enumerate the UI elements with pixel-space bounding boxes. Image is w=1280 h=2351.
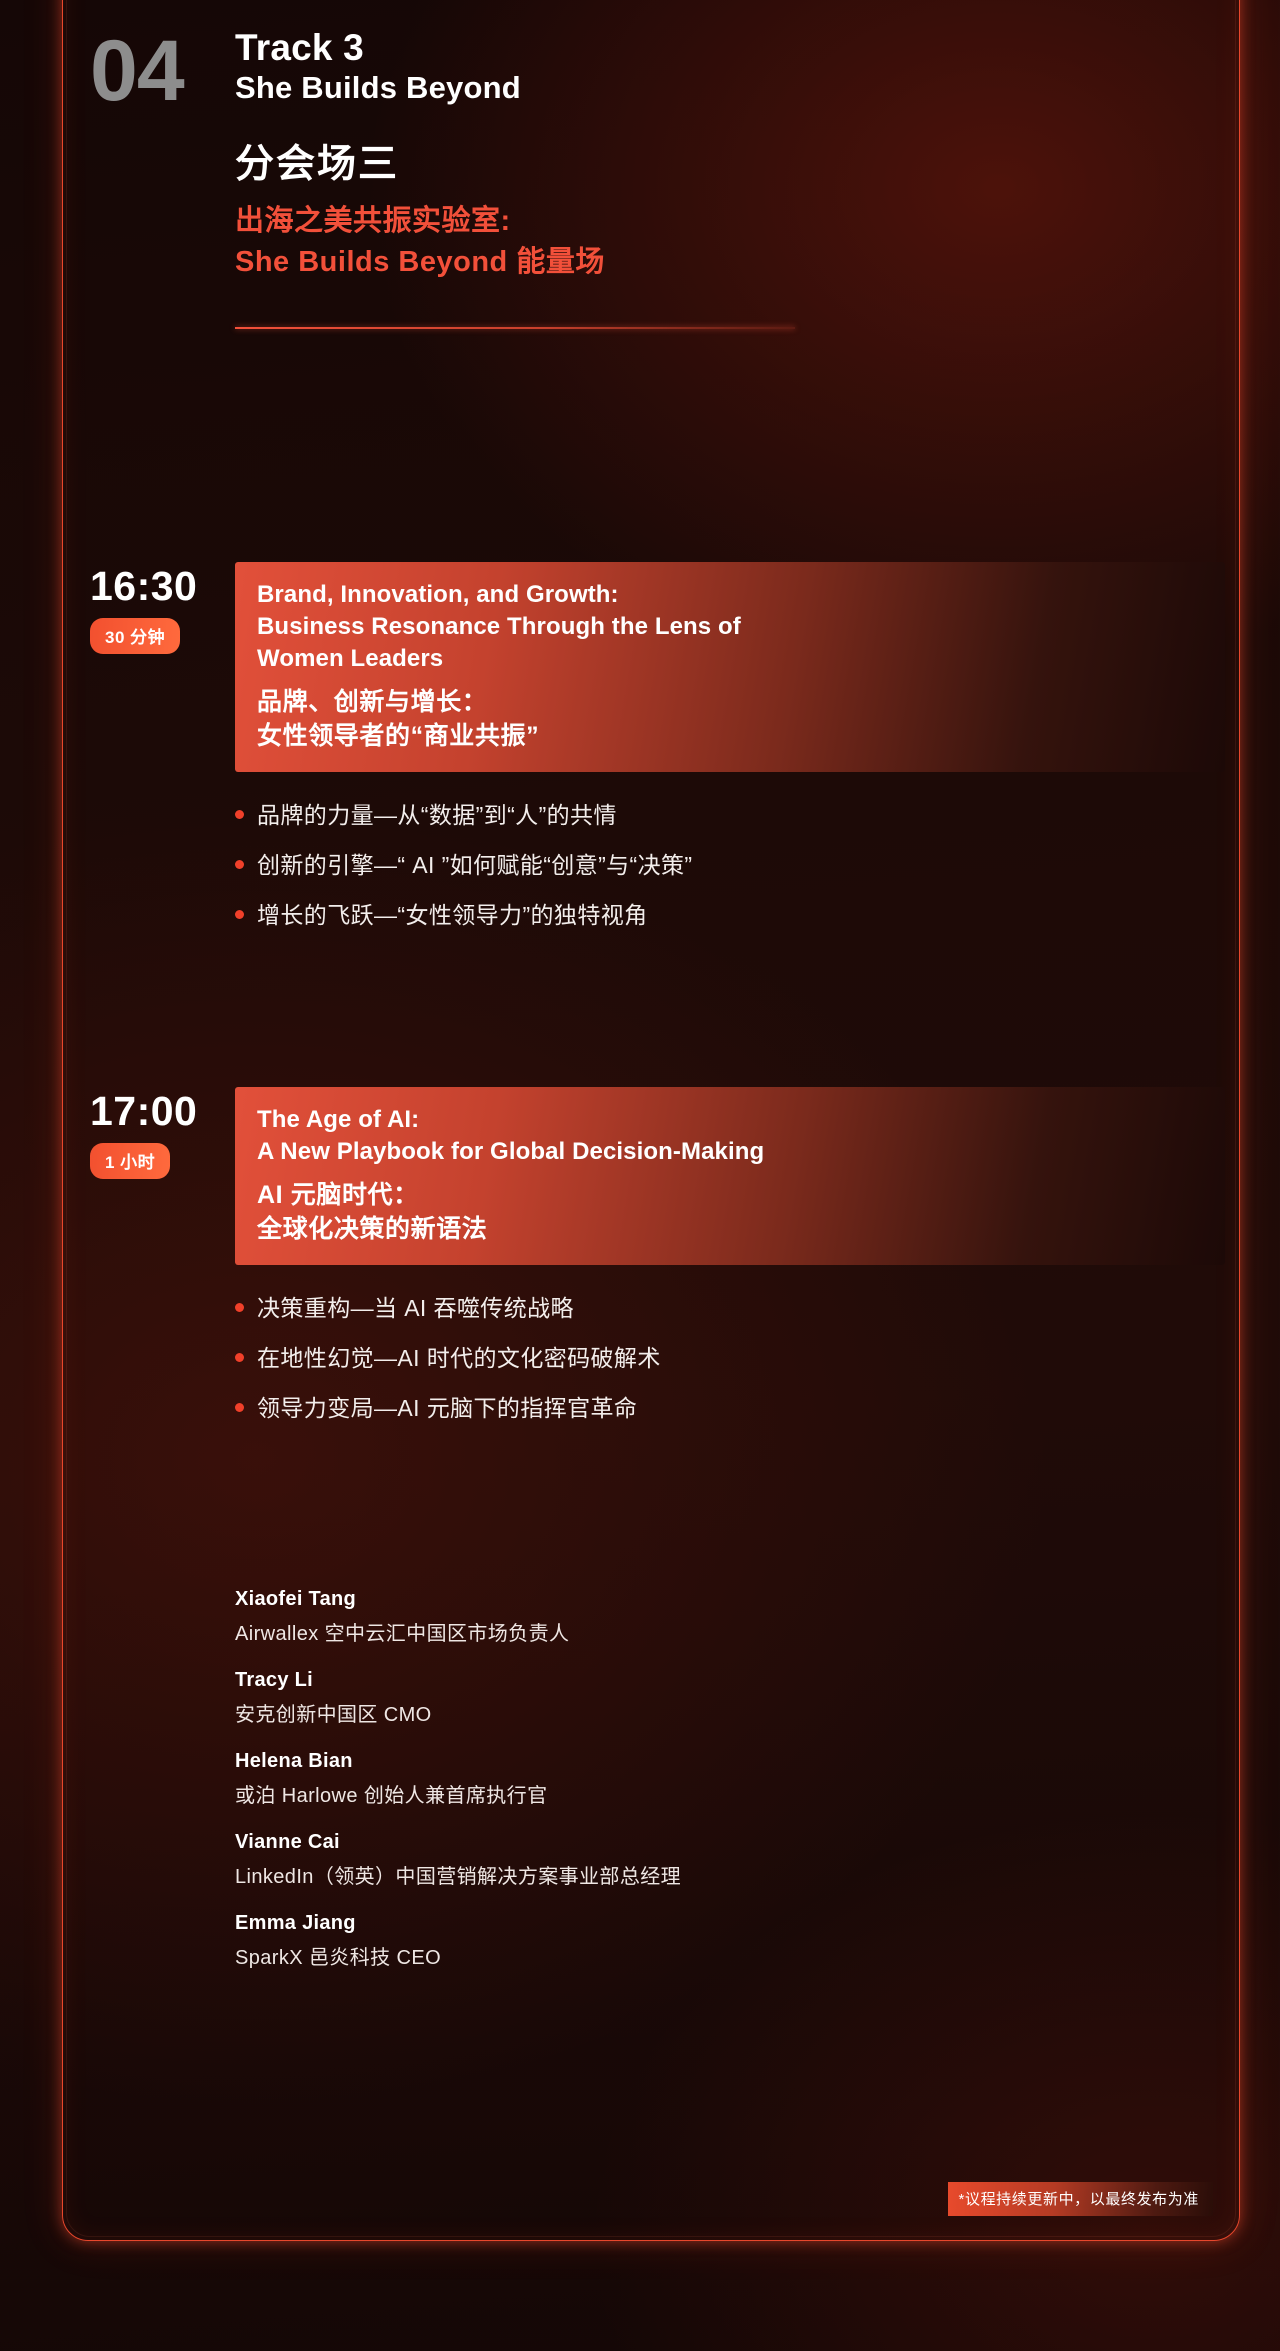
session-2-title-cn-line2: 全球化决策的新语法 <box>257 1212 1205 1247</box>
section-number: 04 <box>90 28 235 114</box>
session-1-title-en-line1: Brand, Innovation, and Growth: <box>257 579 1205 611</box>
session-1-bullet-2: 创新的引擎—“ AI ”如何赋能“创意”与“决策” <box>257 846 692 880</box>
speaker-item: Vianne Cai LinkedIn（领英）中国营销解决方案事业部总经理 <box>235 1831 1220 1889</box>
track-subtitle-line1: 出海之美共振实验室: <box>235 201 1220 242</box>
session-block-1: 16:30 30 分钟 Brand, Innovation, and Growt… <box>90 562 1225 946</box>
track-title-cn-block: 分会场三 出海之美共振实验室: She Builds Beyond 能量场 <box>235 140 1220 283</box>
session-2-bullet-3: 领导力变局—AI 元脑下的指挥官革命 <box>257 1389 637 1423</box>
session-1-title-en: Brand, Innovation, and Growth: Business … <box>257 579 1205 675</box>
poster-header: 04 Track 3 She Builds Beyond 分会场三 出海之美共振… <box>90 22 1220 329</box>
list-item: 增长的飞跃—“女性领导力”的独特视角 <box>235 896 1225 930</box>
agenda-poster: 04 Track 3 She Builds Beyond 分会场三 出海之美共振… <box>0 0 1280 2351</box>
bullet-dot-icon <box>235 1403 244 1412</box>
session-2-bullet-1: 决策重构—当 AI 吞噬传统战略 <box>257 1289 574 1323</box>
session-1-time-column: 16:30 30 分钟 <box>90 562 235 654</box>
session-2-title-en-line1: The Age of AI: <box>257 1104 1205 1136</box>
speaker-1-name: Xiaofei Tang <box>235 1588 1220 1611</box>
session-1-bullet-1: 品牌的力量—从“数据”到“人”的共情 <box>257 796 617 830</box>
speaker-1-role: Airwallex 空中云汇中国区市场负责人 <box>235 1617 1220 1646</box>
agenda-disclaimer-note: *议程持续更新中，以最终发布为准 <box>948 2182 1213 2216</box>
session-1-duration-badge: 30 分钟 <box>90 618 180 654</box>
track-title-en: Track 3 She Builds Beyond <box>235 26 521 106</box>
speaker-item: Emma Jiang SparkX 邑炎科技 CEO <box>235 1912 1220 1970</box>
session-1-title-en-line3: Women Leaders <box>257 643 1205 675</box>
session-2-bullet-list: 决策重构—当 AI 吞噬传统战略 在地性幻觉—AI 时代的文化密码破解术 领导力… <box>235 1289 1225 1423</box>
speaker-3-role: 或泊 Harlowe 创始人兼首席执行官 <box>235 1779 1220 1808</box>
list-item: 在地性幻觉—AI 时代的文化密码破解术 <box>235 1339 1225 1373</box>
session-2-time-column: 17:00 1 小时 <box>90 1087 235 1179</box>
list-item: 决策重构—当 AI 吞噬传统战略 <box>235 1289 1225 1323</box>
list-item: 创新的引擎—“ AI ”如何赋能“创意”与“决策” <box>235 846 1225 880</box>
track-subtitle-line2: She Builds Beyond 能量场 <box>235 242 1220 283</box>
session-2-title-cn: AI 元脑时代： 全球化决策的新语法 <box>257 1178 1205 1247</box>
session-1-title-en-line2: Business Resonance Through the Lens of <box>257 611 1205 643</box>
list-item: 领导力变局—AI 元脑下的指挥官革命 <box>235 1389 1225 1423</box>
header-divider <box>235 327 795 329</box>
session-2-title-en: The Age of AI: A New Playbook for Global… <box>257 1104 1205 1168</box>
session-1-title-cn-line1: 品牌、创新与增长： <box>257 685 1205 720</box>
track-subtitle-cn: 出海之美共振实验室: She Builds Beyond 能量场 <box>235 201 1220 283</box>
bullet-dot-icon <box>235 810 244 819</box>
bullet-dot-icon <box>235 910 244 919</box>
speaker-item: Tracy Li 安克创新中国区 CMO <box>235 1669 1220 1727</box>
session-1-title-cn-line2: 女性领导者的“商业共振” <box>257 719 1205 754</box>
session-2-title-en-line2: A New Playbook for Global Decision-Makin… <box>257 1136 1205 1168</box>
speaker-2-name: Tracy Li <box>235 1669 1220 1692</box>
track-title-line2: She Builds Beyond <box>235 70 521 107</box>
speaker-item: Helena Bian 或泊 Harlowe 创始人兼首席执行官 <box>235 1750 1220 1808</box>
track-title-line1: Track 3 <box>235 26 521 70</box>
session-1-title-cn: 品牌、创新与增长： 女性领导者的“商业共振” <box>257 685 1205 754</box>
speaker-list: Xiaofei Tang Airwallex 空中云汇中国区市场负责人 Trac… <box>235 1588 1220 1993</box>
session-1-bullet-3: 增长的飞跃—“女性领导力”的独特视角 <box>257 896 648 930</box>
session-block-2: 17:00 1 小时 The Age of AI: A New Playbook… <box>90 1087 1225 1439</box>
session-1-title-card: Brand, Innovation, and Growth: Business … <box>235 562 1225 772</box>
bullet-dot-icon <box>235 860 244 869</box>
session-2-time: 17:00 <box>90 1091 235 1132</box>
speaker-3-name: Helena Bian <box>235 1750 1220 1773</box>
session-1-time: 16:30 <box>90 566 235 607</box>
track-title-cn: 分会场三 <box>235 140 1220 191</box>
speaker-5-name: Emma Jiang <box>235 1912 1220 1935</box>
speaker-4-role: LinkedIn（领英）中国营销解决方案事业部总经理 <box>235 1860 1220 1889</box>
speaker-2-role: 安克创新中国区 CMO <box>235 1698 1220 1727</box>
list-item: 品牌的力量—从“数据”到“人”的共情 <box>235 796 1225 830</box>
session-2-title-cn-line1: AI 元脑时代： <box>257 1178 1205 1213</box>
speaker-4-name: Vianne Cai <box>235 1831 1220 1854</box>
session-2-duration-badge: 1 小时 <box>90 1143 170 1179</box>
bullet-dot-icon <box>235 1353 244 1362</box>
session-1-bullet-list: 品牌的力量—从“数据”到“人”的共情 创新的引擎—“ AI ”如何赋能“创意”与… <box>235 796 1225 930</box>
session-2-title-card: The Age of AI: A New Playbook for Global… <box>235 1087 1225 1265</box>
bullet-dot-icon <box>235 1303 244 1312</box>
session-2-bullet-2: 在地性幻觉—AI 时代的文化密码破解术 <box>257 1339 661 1373</box>
speaker-5-role: SparkX 邑炎科技 CEO <box>235 1941 1220 1970</box>
speaker-item: Xiaofei Tang Airwallex 空中云汇中国区市场负责人 <box>235 1588 1220 1646</box>
